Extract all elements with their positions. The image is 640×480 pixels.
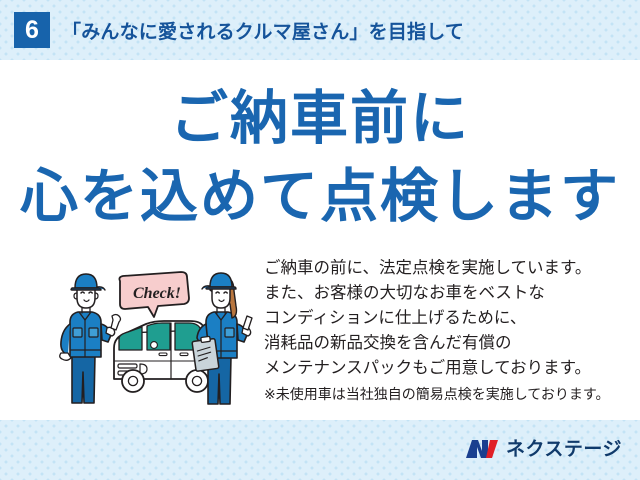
copy-line: 消耗品の新品交換を含んだ有償の bbox=[264, 331, 630, 356]
nextage-logo: ネクステージ bbox=[465, 436, 622, 462]
body-copy: ご納車の前に、法定点検を実施しています。 また、お客様の大切なお車をベストな コ… bbox=[264, 256, 630, 405]
nextage-logo-text: ネクステージ bbox=[506, 440, 622, 459]
banner-header: 6 「みんなに愛されるクルマ屋さん」を目指して bbox=[0, 0, 640, 60]
copy-footnote: ※未使用車は当社独自の簡易点検を実施しております。 bbox=[264, 383, 630, 405]
promo-banner: 6 「みんなに愛されるクルマ屋さん」を目指して ご納車前に 心を込めて点検します bbox=[0, 0, 640, 480]
section-number-badge: 6 bbox=[14, 12, 50, 48]
content-panel: ご納車前に 心を込めて点検します bbox=[0, 60, 640, 420]
copy-line: ご納車の前に、法定点検を実施しています。 bbox=[264, 256, 630, 281]
headline-line-2: 心を込めて点検します bbox=[0, 168, 640, 226]
copy-line: メンテナンスパックもご用意しております。 bbox=[264, 356, 630, 381]
mechanics-illustration: Check! bbox=[58, 260, 258, 410]
nextage-logo-mark bbox=[465, 437, 499, 461]
speech-bubble-label: Check! bbox=[133, 285, 181, 302]
headline-line-1: ご納車前に bbox=[0, 90, 640, 148]
header-title: 「みんなに愛されるクルマ屋さん」を目指して bbox=[62, 17, 464, 44]
copy-line: コンディションに仕上げるために、 bbox=[264, 306, 630, 331]
male-mechanic-figure bbox=[60, 274, 121, 403]
banner-footer: ネクステージ bbox=[0, 420, 640, 480]
copy-line: また、お客様の大切なお車をベストな bbox=[264, 281, 630, 306]
